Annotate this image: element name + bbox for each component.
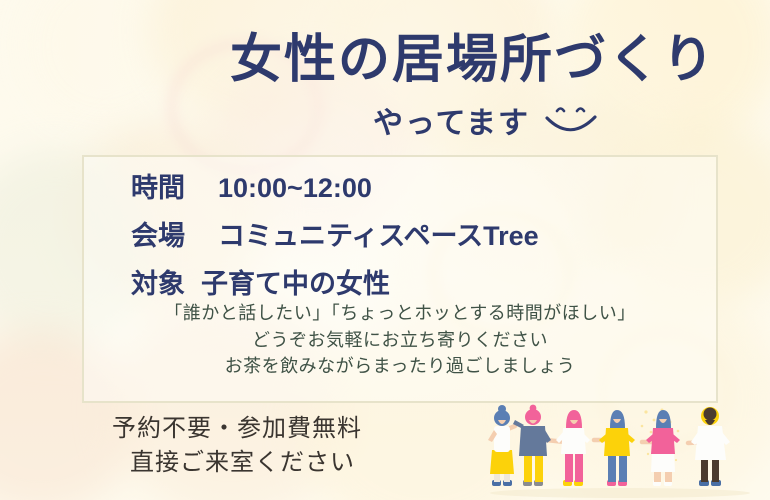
smiley-face-icon [544, 103, 600, 137]
footer-line: 直接ご来室ください [112, 446, 362, 480]
subheadline-row: やってます [0, 98, 716, 142]
info-row-time: 時間 10:00~12:00 [131, 166, 539, 205]
info-row-audience: 対象 子育て中の女性 [131, 262, 539, 301]
figure [599, 410, 635, 486]
figure [488, 405, 514, 486]
info-rows: 時間 10:00~12:00 会場 コミュニティスペースTree 対象 子育て中… [131, 166, 539, 310]
poster-canvas: 女性の居場所づくり やってます 時間 10:00~12:00 会場 コミュニティ… [0, 0, 770, 500]
ground-shadow [490, 488, 750, 498]
message-line: お茶を飲みながらまったり過ごしましょう [82, 353, 718, 380]
info-value: 10:00~12:00 [218, 173, 372, 204]
info-label: 会場 [131, 214, 185, 253]
info-label: 時間 [131, 166, 185, 205]
figure [513, 405, 551, 486]
info-value: コミュニティスペースTree [218, 214, 539, 253]
women-holding-hands-illustration [470, 398, 770, 500]
info-label: 対象 [131, 262, 185, 301]
message-line: 「誰かと話したい」「ちょっとホッとする時間がほしい」 [82, 300, 718, 327]
footer-line: 予約不要・参加費無料 [112, 412, 362, 446]
info-row-venue: 会場 コミュニティスペースTree [131, 214, 539, 253]
figure [691, 407, 730, 486]
message-block: 「誰かと話したい」「ちょっとホッとする時間がほしい」 どうぞお気軽にお立ち寄りく… [82, 300, 718, 380]
figure [646, 410, 680, 486]
message-line: どうぞお気軽にお立ち寄りください [82, 327, 718, 354]
headline-block: 女性の居場所づくり やってます [0, 34, 716, 142]
footer-notes: 予約不要・参加費無料 直接ご来室ください [112, 412, 362, 480]
figure [556, 410, 590, 486]
info-value: 子育て中の女性 [201, 262, 390, 301]
page-title: 女性の居場所づくり [0, 34, 716, 86]
page-subtitle: やってます [373, 98, 530, 142]
